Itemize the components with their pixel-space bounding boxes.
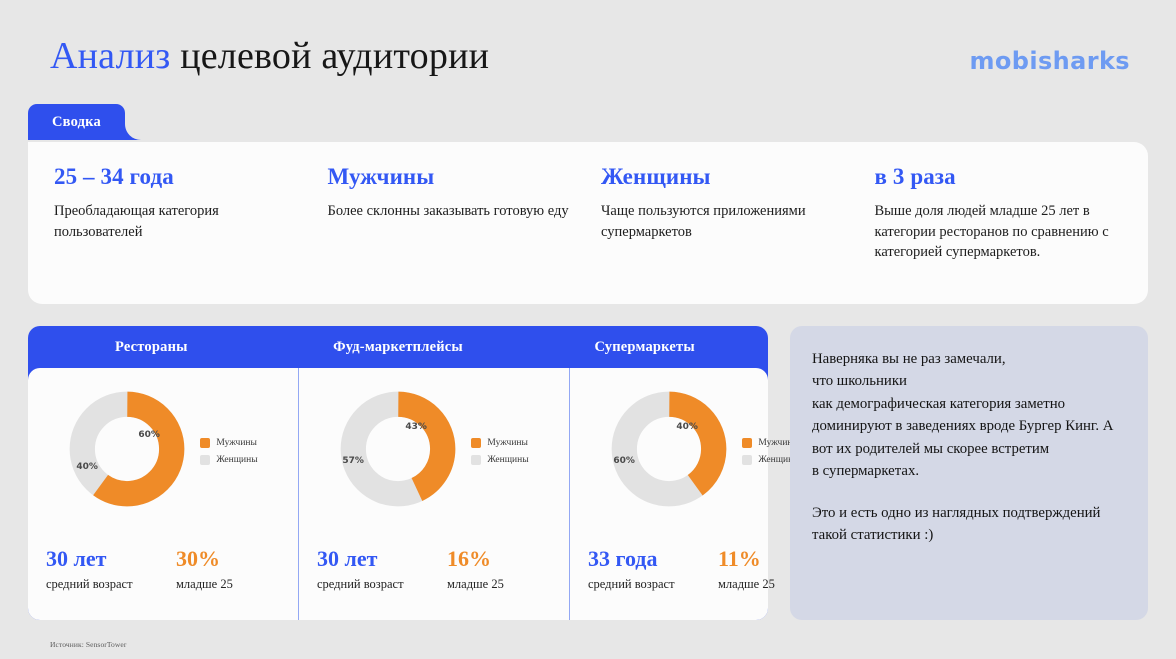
summary-item: Женщины Чаще пользуются приложениями суп… bbox=[601, 164, 875, 304]
summary-card: 25 – 34 года Преобладающая категория пол… bbox=[28, 142, 1148, 304]
donut-row: 60% 40% Мужчины Женщины bbox=[28, 382, 298, 516]
legend-swatch-icon bbox=[471, 438, 481, 448]
chart-column-title: Фуд-маркетплейсы bbox=[275, 326, 522, 368]
chart-column-title: Рестораны bbox=[28, 326, 275, 368]
stat-value: 30 лет bbox=[46, 546, 150, 572]
note-paragraph: Наверняка вы не раз замечали, что школьн… bbox=[812, 348, 1128, 483]
stat-value: 30 лет bbox=[317, 546, 421, 572]
donut-slice-label-women: 57% bbox=[342, 456, 364, 466]
chart-column-title: Супермаркеты bbox=[521, 326, 768, 368]
donut-svg bbox=[68, 390, 186, 508]
legend-item-women: Женщины bbox=[471, 455, 528, 465]
donut-chart: 40% 60% bbox=[610, 390, 728, 508]
tab-strip: Сводка bbox=[28, 104, 125, 142]
stat-value: 33 года bbox=[588, 546, 692, 572]
page-title-accent: Анализ bbox=[50, 35, 171, 77]
legend-label: Мужчины bbox=[487, 438, 528, 448]
legend-swatch-icon bbox=[200, 455, 210, 465]
charts-header: Рестораны Фуд-маркетплейсы Супермаркеты bbox=[28, 326, 768, 368]
stat-under-25: 16% младше 25 bbox=[447, 546, 551, 592]
source-note: Источник: SensorTower bbox=[50, 640, 126, 649]
stats-row: 30 лет средний возраст 16% младше 25 bbox=[299, 546, 569, 592]
legend-swatch-icon bbox=[471, 455, 481, 465]
donut-chart: 60% 40% bbox=[68, 390, 186, 508]
stat-average-age: 33 года средний возраст bbox=[588, 546, 692, 592]
donut-slice-label-men: 43% bbox=[405, 422, 427, 432]
stat-under-25: 30% младше 25 bbox=[176, 546, 280, 592]
stat-caption: младше 25 bbox=[447, 577, 551, 592]
summary-item-body: Чаще пользуются приложениями супермаркет… bbox=[601, 201, 849, 242]
stat-caption: средний возраст bbox=[588, 577, 692, 592]
donut-chart: 43% 57% bbox=[339, 390, 457, 508]
donut-legend: Мужчины Женщины bbox=[200, 434, 257, 465]
legend-item-men: Мужчины bbox=[200, 438, 257, 448]
summary-item: 25 – 34 года Преобладающая категория пол… bbox=[54, 164, 328, 304]
page-title: Анализ целевой аудитории bbox=[50, 34, 489, 78]
summary-item-heading: Мужчины bbox=[328, 164, 576, 190]
stat-caption: средний возраст bbox=[317, 577, 421, 592]
page-header: Анализ целевой аудитории mobisharks bbox=[0, 0, 1176, 100]
donut-legend: Мужчины Женщины bbox=[471, 434, 528, 465]
chart-column-restaurants: 60% 40% Мужчины Женщины 30 лет bbox=[28, 368, 298, 620]
stat-average-age: 30 лет средний возраст bbox=[317, 546, 421, 592]
summary-item-body: Преобладающая категория пользователей bbox=[54, 201, 302, 242]
charts-body: 60% 40% Мужчины Женщины 30 лет bbox=[28, 368, 768, 620]
note-paragraph: Это и есть одно из наглядных подтвержден… bbox=[812, 502, 1128, 547]
donut-svg bbox=[339, 390, 457, 508]
summary-item-heading: 25 – 34 года bbox=[54, 164, 302, 190]
donut-row: 43% 57% Мужчины Женщины bbox=[299, 382, 569, 516]
insight-note-panel: Наверняка вы не раз замечали, что школьн… bbox=[790, 326, 1148, 620]
summary-item: Мужчины Более склонны заказывать готовую… bbox=[328, 164, 602, 304]
legend-swatch-icon bbox=[200, 438, 210, 448]
stat-value: 30% bbox=[176, 546, 280, 572]
legend-swatch-icon bbox=[742, 438, 752, 448]
donut-slice-label-men: 60% bbox=[138, 430, 160, 440]
legend-label: Женщины bbox=[216, 455, 257, 465]
legend-label: Мужчины bbox=[216, 438, 257, 448]
stat-value: 16% bbox=[447, 546, 551, 572]
charts-panel: Рестораны Фуд-маркетплейсы Супермаркеты … bbox=[28, 326, 768, 620]
stat-average-age: 30 лет средний возраст bbox=[46, 546, 150, 592]
stat-caption: младше 25 bbox=[176, 577, 280, 592]
summary-item-heading: в 3 раза bbox=[875, 164, 1123, 190]
donut-slice-label-men: 40% bbox=[676, 422, 698, 432]
summary-item-heading: Женщины bbox=[601, 164, 849, 190]
legend-label: Женщины bbox=[487, 455, 528, 465]
stats-row: 30 лет средний возраст 30% младше 25 bbox=[28, 546, 298, 592]
chart-column-food-marketplaces: 43% 57% Мужчины Женщины 30 лет bbox=[298, 368, 569, 620]
stat-caption: средний возраст bbox=[46, 577, 150, 592]
brand-logo: mobisharks bbox=[969, 47, 1130, 75]
tab-summary[interactable]: Сводка bbox=[28, 104, 125, 140]
donut-slice-label-women: 40% bbox=[76, 462, 98, 472]
page-title-rest: целевой аудитории bbox=[171, 35, 490, 77]
summary-item-body: Выше доля людей младше 25 лет в категори… bbox=[875, 201, 1123, 263]
donut-svg bbox=[610, 390, 728, 508]
summary-item-body: Более склонны заказывать готовую еду bbox=[328, 201, 576, 222]
legend-swatch-icon bbox=[742, 455, 752, 465]
donut-slice-label-women: 60% bbox=[613, 456, 635, 466]
summary-item: в 3 раза Выше доля людей младше 25 лет в… bbox=[875, 164, 1123, 304]
legend-item-women: Женщины bbox=[200, 455, 257, 465]
legend-item-men: Мужчины bbox=[471, 438, 528, 448]
